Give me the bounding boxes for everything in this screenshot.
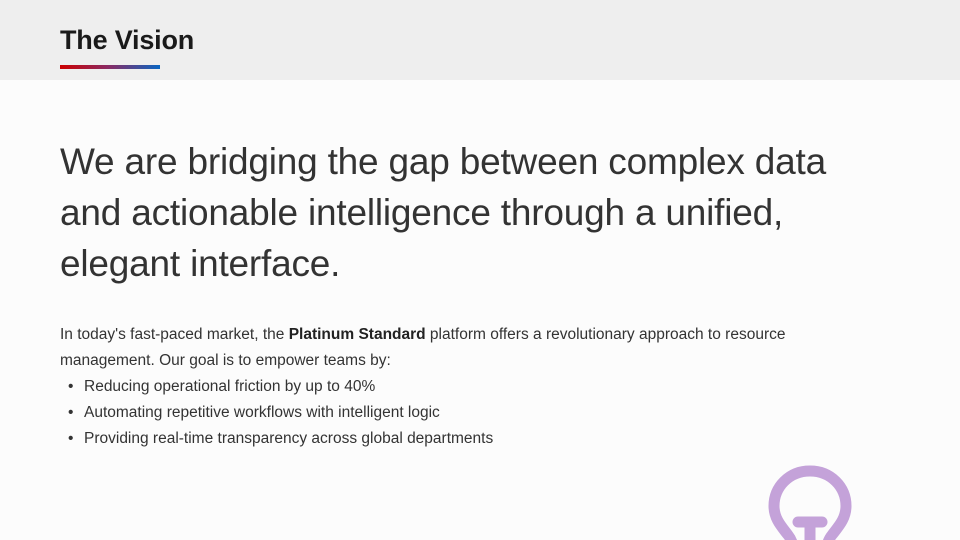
slide-body: We are bridging the gap between complex … xyxy=(0,80,960,540)
accent-underline xyxy=(60,65,160,69)
slide-the-vision: The Vision We are bridging the gap betwe… xyxy=(0,0,960,540)
list-item-label: Automating repetitive workflows with int… xyxy=(84,404,440,421)
benefits-list: •Reducing operational friction by up to … xyxy=(60,374,740,451)
bullet-marker-icon: • xyxy=(68,374,73,400)
slide-header: The Vision xyxy=(0,0,960,80)
list-item: •Providing real-time transparency across… xyxy=(60,426,740,452)
bullet-marker-icon: • xyxy=(68,400,73,426)
page-title: The Vision xyxy=(60,23,194,57)
intro-paragraph: In today's fast-paced market, the Platin… xyxy=(60,322,865,373)
list-item: •Reducing operational friction by up to … xyxy=(60,374,740,400)
lead-statement: We are bridging the gap between complex … xyxy=(60,136,870,289)
list-item: •Automating repetitive workflows with in… xyxy=(60,400,740,426)
list-item-label: Reducing operational friction by up to 4… xyxy=(84,378,375,395)
platform-name-emphasis: Platinum Standard xyxy=(289,326,426,343)
intro-paragraph-before: In today's fast-paced market, the xyxy=(60,326,289,343)
bullet-marker-icon: • xyxy=(68,426,73,452)
lightbulb-icon xyxy=(762,465,858,540)
list-item-label: Providing real-time transparency across … xyxy=(84,430,493,447)
